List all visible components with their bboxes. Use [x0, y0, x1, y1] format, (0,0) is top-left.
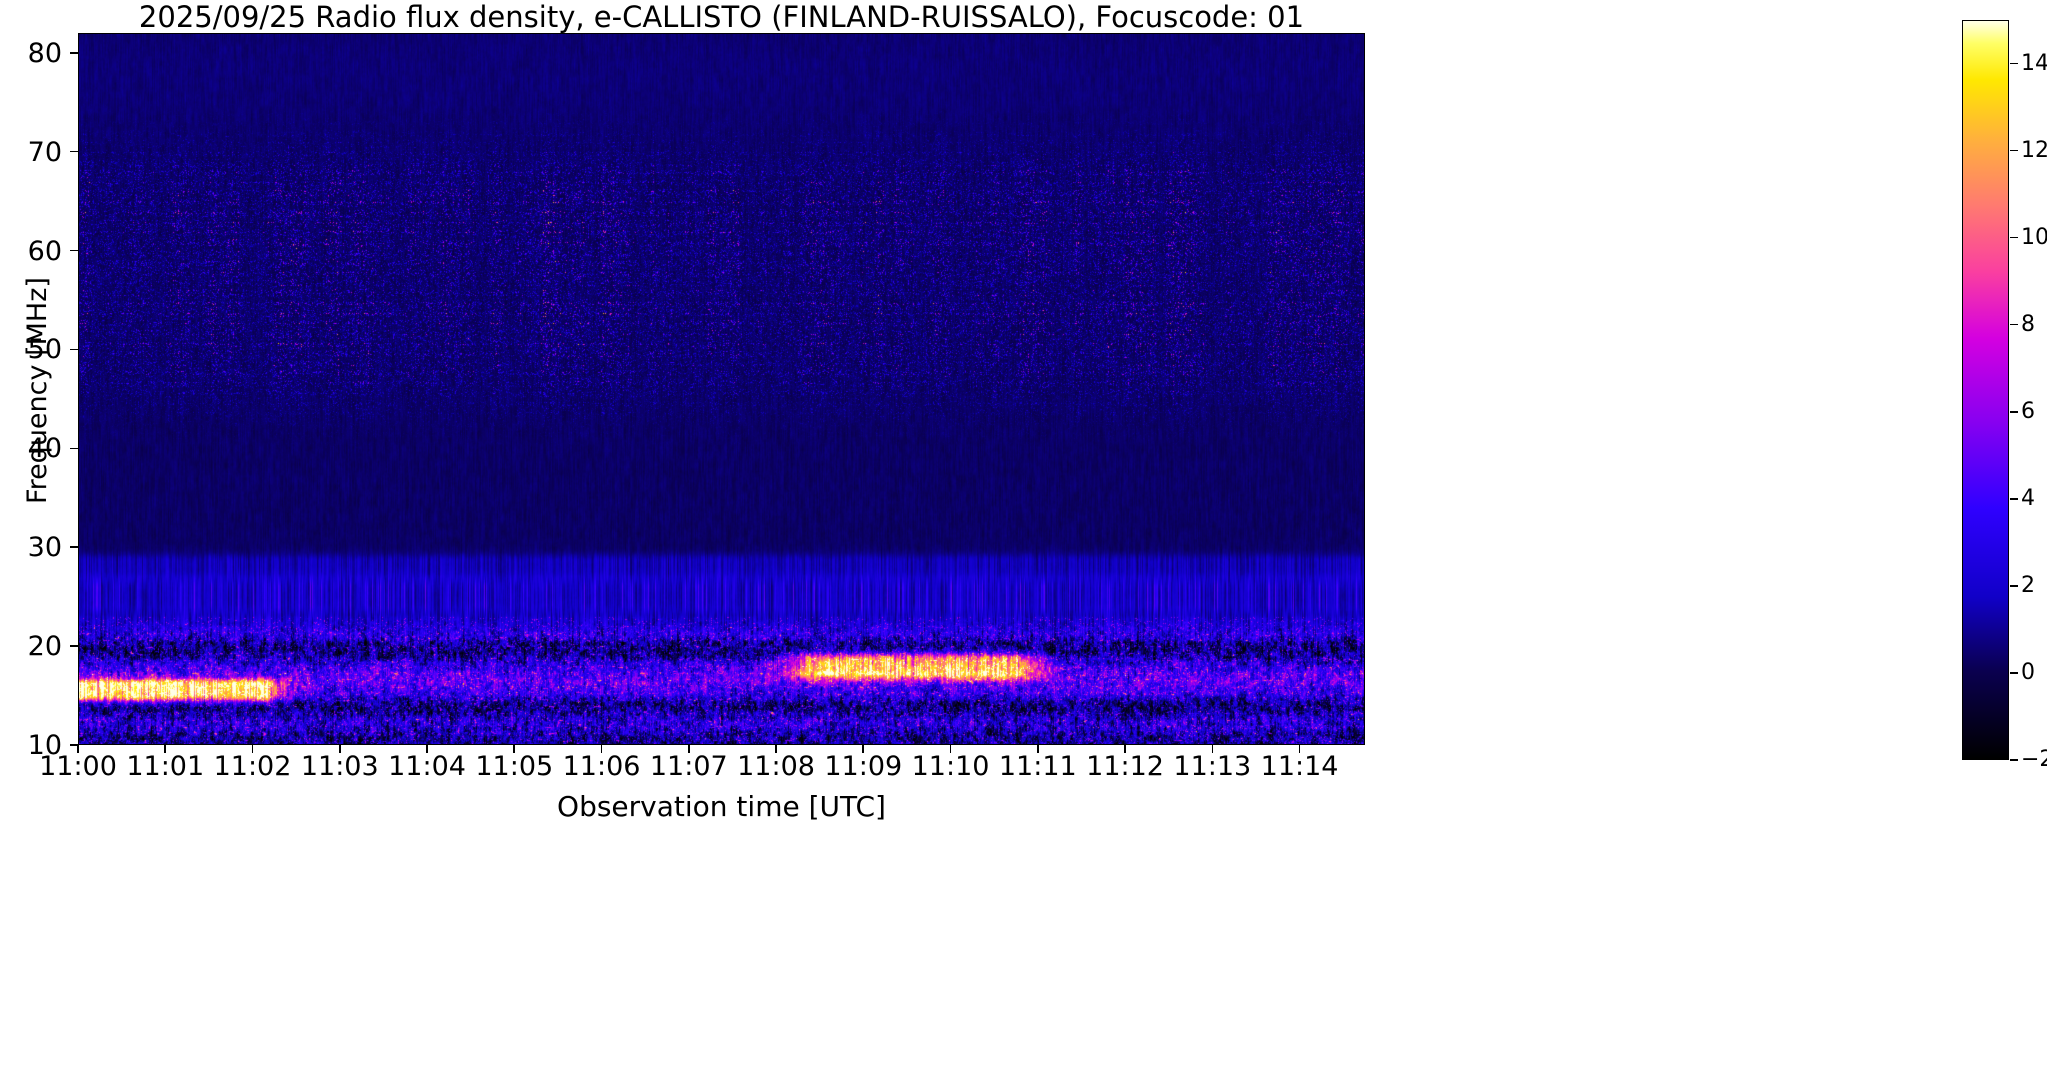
colorbar-tick-label: 2	[2021, 575, 2035, 597]
colorbar-tick-label: 14	[2021, 53, 2047, 75]
x-tick-label: 11:10	[912, 753, 990, 780]
x-tick-label: 11:02	[214, 753, 292, 780]
colorbar-tick-mark	[2010, 498, 2018, 500]
x-tick-label: 11:01	[126, 753, 204, 780]
x-tick-label: 11:12	[1086, 753, 1164, 780]
colorbar-tick-label: −2	[2021, 749, 2047, 771]
spectrogram-plot-area[interactable]	[78, 33, 1365, 745]
x-tick-label: 11:09	[824, 753, 902, 780]
x-tick-label: 11:11	[999, 753, 1077, 780]
x-tick-label: 11:07	[650, 753, 728, 780]
colorbar-tick-mark	[2010, 411, 2018, 413]
colorbar-tick-mark	[2010, 63, 2018, 65]
colorbar	[1962, 20, 2009, 760]
x-tick-label: 11:14	[1261, 753, 1339, 780]
colorbar-tick-label: 6	[2021, 401, 2035, 423]
y-tick-label: 80	[0, 40, 62, 67]
colorbar-tick-mark	[2010, 585, 2018, 587]
spectrogram-image	[78, 33, 1365, 745]
page-title: 2025/09/25 Radio flux density, e-CALLIST…	[78, 2, 1365, 32]
x-tick-label: 11:05	[475, 753, 553, 780]
y-tick-mark	[70, 448, 78, 450]
colorbar-tick-mark	[2010, 237, 2018, 239]
colorbar-tick-mark	[2010, 150, 2018, 152]
y-tick-mark	[70, 151, 78, 153]
y-tick-mark	[70, 546, 78, 548]
y-tick-label: 30	[0, 534, 62, 561]
colorbar-gradient	[1963, 21, 2008, 759]
x-tick-label: 11:00	[39, 753, 117, 780]
colorbar-tick-label: 12	[2021, 140, 2047, 162]
spectrogram-figure: 2025/09/25 Radio flux density, e-CALLIST…	[0, 0, 2047, 1067]
x-tick-label: 11:06	[563, 753, 641, 780]
x-tick-label: 11:13	[1173, 753, 1251, 780]
x-axis-label: Observation time [UTC]	[78, 790, 1365, 823]
y-tick-mark	[70, 645, 78, 647]
y-tick-mark	[70, 349, 78, 351]
x-tick-label: 11:04	[388, 753, 466, 780]
y-tick-label: 70	[0, 139, 62, 166]
y-tick-mark	[70, 250, 78, 252]
y-tick-mark	[70, 52, 78, 54]
x-tick-label: 11:03	[301, 753, 379, 780]
colorbar-tick-mark	[2010, 759, 2018, 761]
colorbar-tick-mark	[2010, 672, 2018, 674]
y-tick-label: 60	[0, 238, 62, 265]
colorbar-tick-label: 8	[2021, 314, 2035, 336]
colorbar-tick-mark	[2010, 324, 2018, 326]
y-tick-label: 20	[0, 633, 62, 660]
colorbar-tick-label: 0	[2021, 662, 2035, 684]
x-tick-label: 11:08	[737, 753, 815, 780]
y-axis-label: Frequency [MHz]	[22, 277, 53, 504]
colorbar-tick-label: 4	[2021, 488, 2035, 510]
colorbar-tick-label: 10	[2021, 227, 2047, 249]
